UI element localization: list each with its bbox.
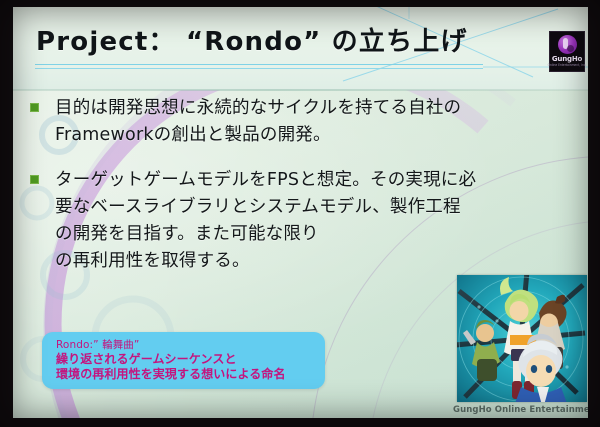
rondo-definition-callout: Rondo:” 輪舞曲” 繰り返されるゲームシーケンスと 環境の再利用性を実現す…	[42, 332, 325, 389]
logo-name: GungHo	[552, 55, 582, 63]
gungho-spiral-icon	[558, 35, 577, 54]
game-key-visual	[457, 275, 587, 402]
title-rule-lower	[35, 68, 483, 69]
square-bullet-icon	[30, 175, 39, 184]
artwork-illustration	[457, 275, 587, 402]
title-rule-upper	[35, 64, 483, 65]
callout-line-1: Rondo:” 輪舞曲”	[56, 338, 325, 352]
bullet-text: ターゲットゲームモデルをFPSと想定。その実現に必 要なベースライブラリとシステ…	[55, 167, 588, 275]
logo-subtitle: Online Entertainment, Inc.	[548, 63, 587, 67]
callout-line-3: 環境の再利用性を実現する想いによる命名	[56, 367, 325, 382]
page-title: Project： “Rondo” の立ち上げ	[36, 21, 468, 58]
header-divider	[13, 89, 588, 91]
list-item: 目的は開発思想に永続的なサイクルを持てる自社の Frameworkの創出と製品の…	[13, 95, 588, 149]
bullet-text: 目的は開発思想に永続的なサイクルを持てる自社の Frameworkの創出と製品の…	[55, 95, 588, 149]
slide-header: Project： “Rondo” の立ち上げ	[13, 7, 588, 90]
list-item: ターゲットゲームモデルをFPSと想定。その実現に必 要なベースライブラリとシステ…	[13, 167, 588, 275]
square-bullet-icon	[30, 103, 39, 112]
callout-line-2: 繰り返されるゲームシーケンスと	[56, 352, 325, 367]
gungho-logo: GungHo Online Entertainment, Inc.	[549, 31, 585, 72]
bullet-list: 目的は開発思想に永続的なサイクルを持てる自社の Frameworkの創出と製品の…	[13, 95, 588, 293]
photographed-slide-frame: Project： “Rondo” の立ち上げ GungHo Online Ent…	[0, 0, 600, 427]
presentation-slide: Project： “Rondo” の立ち上げ GungHo Online Ent…	[13, 7, 588, 418]
footer-credit: GungHo Online Entertainment, Inc.	[453, 405, 588, 415]
